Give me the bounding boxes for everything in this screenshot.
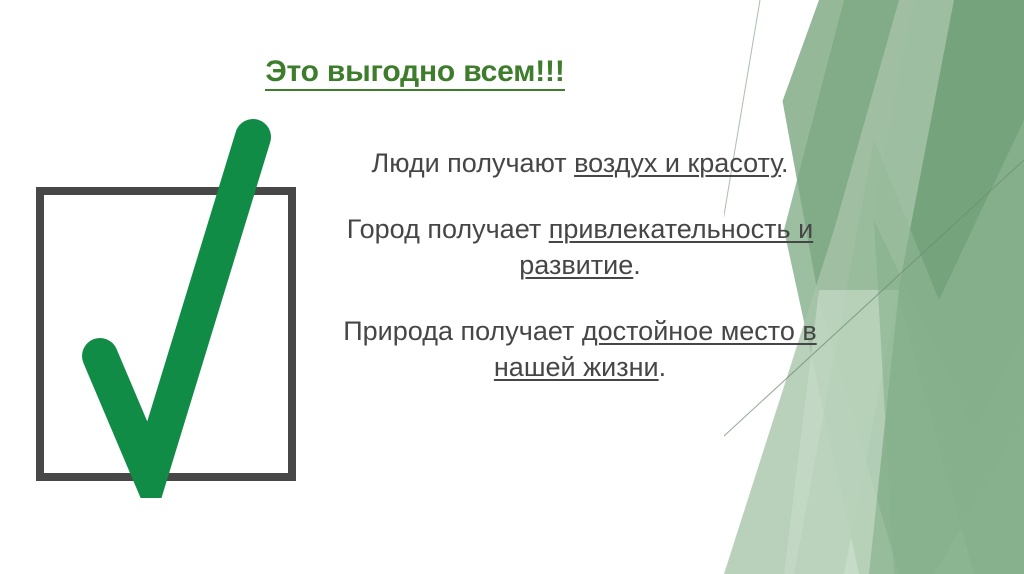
paragraph-nature-suffix: . (659, 352, 667, 382)
paragraph-city: Город получает привлекательность и разви… (330, 212, 830, 284)
paragraph-people: Люди получают воздух и красоту. (330, 146, 830, 182)
paragraph-nature: Природа получает достойное место в нашей… (330, 314, 830, 386)
paragraph-city-emphasis: привлекательность и развитие (519, 214, 813, 280)
paragraph-spacer-2 (330, 284, 830, 314)
paragraph-people-emphasis: воздух и красоту (574, 148, 781, 178)
page-title-text: Это выгодно всем!!! (265, 55, 564, 91)
checkbox-with-checkmark-graphic (22, 118, 322, 498)
body-text-block: Люди получают воздух и красоту. Город по… (330, 146, 830, 386)
paragraph-spacer-1 (330, 182, 830, 212)
paragraph-people-suffix: . (781, 148, 789, 178)
decor-shape-7 (874, 220, 1024, 574)
paragraph-people-prefix: Люди получают (371, 148, 574, 178)
paragraph-nature-prefix: Природа получает (343, 316, 582, 346)
paragraph-city-suffix: . (633, 250, 641, 280)
slide-canvas: Это выгодно всем!!! Люди получают воздух… (0, 0, 1024, 574)
page-title: Это выгодно всем!!! (0, 55, 830, 89)
decor-shape-3 (874, 0, 1024, 574)
paragraph-city-prefix: Город получает (347, 214, 549, 244)
